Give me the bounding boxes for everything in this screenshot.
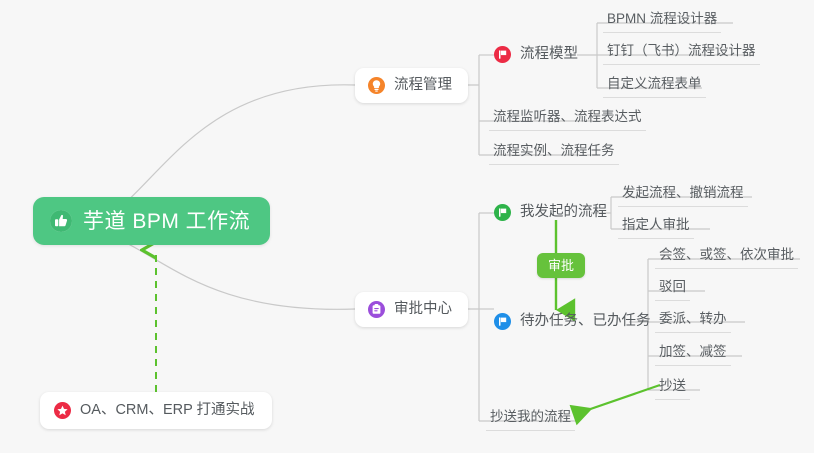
- leaf-label: 抄送我的流程: [486, 410, 575, 431]
- root-node[interactable]: 芋道 BPM 工作流: [33, 197, 270, 245]
- leaf-process-listener[interactable]: 流程监听器、流程表达式: [489, 110, 646, 131]
- leaf-label: 加签、减签: [655, 345, 731, 366]
- branch-approval-center[interactable]: 审批中心: [355, 292, 468, 327]
- mindmap-canvas: 芋道 BPM 工作流 流程管理 流程模型 BPMN 流程设计器 钉钉（飞书）流程…: [0, 0, 814, 453]
- leaf-bpmn-designer[interactable]: BPMN 流程设计器: [603, 12, 721, 33]
- leaf-label: 自定义流程表单: [603, 77, 706, 98]
- node-label: 我发起的流程: [520, 205, 607, 220]
- branch-process-management[interactable]: 流程管理: [355, 68, 468, 103]
- leaf-countersign[interactable]: 会签、或签、依次审批: [655, 248, 798, 269]
- approval-badge: 审批: [537, 253, 585, 278]
- leaf-label: 发起流程、撤销流程: [618, 186, 748, 207]
- leaf-label: 指定人审批: [618, 218, 694, 239]
- branch-label: 流程管理: [394, 78, 452, 93]
- leaf-delegate-transfer[interactable]: 委派、转办: [655, 312, 731, 333]
- leaf-label: 会签、或签、依次审批: [655, 248, 798, 269]
- star-icon: [54, 402, 71, 419]
- flag-icon: [494, 204, 511, 221]
- node-my-initiated[interactable]: 我发起的流程: [494, 204, 607, 221]
- leaf-label: 钉钉（飞书）流程设计器: [603, 44, 760, 65]
- leaf-cc[interactable]: 抄送: [655, 379, 690, 400]
- thumbs-up-icon: [50, 210, 72, 232]
- leaf-custom-form[interactable]: 自定义流程表单: [603, 77, 706, 98]
- leaf-label: BPMN 流程设计器: [603, 12, 721, 33]
- leaf-start-cancel-process[interactable]: 发起流程、撤销流程: [618, 186, 748, 207]
- flag-icon: [494, 46, 511, 63]
- leaf-label: 流程监听器、流程表达式: [489, 110, 646, 131]
- leaf-label: 抄送: [655, 379, 690, 400]
- leaf-label: 驳回: [655, 280, 690, 301]
- integration-note-label: OA、CRM、ERP 打通实战: [80, 403, 255, 418]
- flag-icon: [494, 313, 511, 330]
- node-process-model[interactable]: 流程模型: [494, 46, 578, 63]
- integration-note[interactable]: OA、CRM、ERP 打通实战: [40, 392, 272, 429]
- leaf-cc-to-me[interactable]: 抄送我的流程: [486, 410, 575, 431]
- node-label: 流程模型: [520, 47, 578, 62]
- leaf-assignee-approval[interactable]: 指定人审批: [618, 218, 694, 239]
- leaf-add-remove-sign[interactable]: 加签、减签: [655, 345, 731, 366]
- cc-arrow: [576, 385, 660, 414]
- lightbulb-icon: [368, 77, 385, 94]
- leaf-reject[interactable]: 驳回: [655, 280, 690, 301]
- node-label: 待办任务、已办任务: [520, 314, 651, 329]
- leaf-dingtalk-designer[interactable]: 钉钉（飞书）流程设计器: [603, 44, 760, 65]
- node-todo-done-tasks[interactable]: 待办任务、已办任务: [494, 313, 651, 330]
- leaf-label: 委派、转办: [655, 312, 731, 333]
- root-label: 芋道 BPM 工作流: [83, 211, 250, 232]
- branch-label: 审批中心: [394, 302, 452, 317]
- leaf-process-instance[interactable]: 流程实例、流程任务: [489, 144, 619, 165]
- leaf-label: 流程实例、流程任务: [489, 144, 619, 165]
- clipboard-icon: [368, 301, 385, 318]
